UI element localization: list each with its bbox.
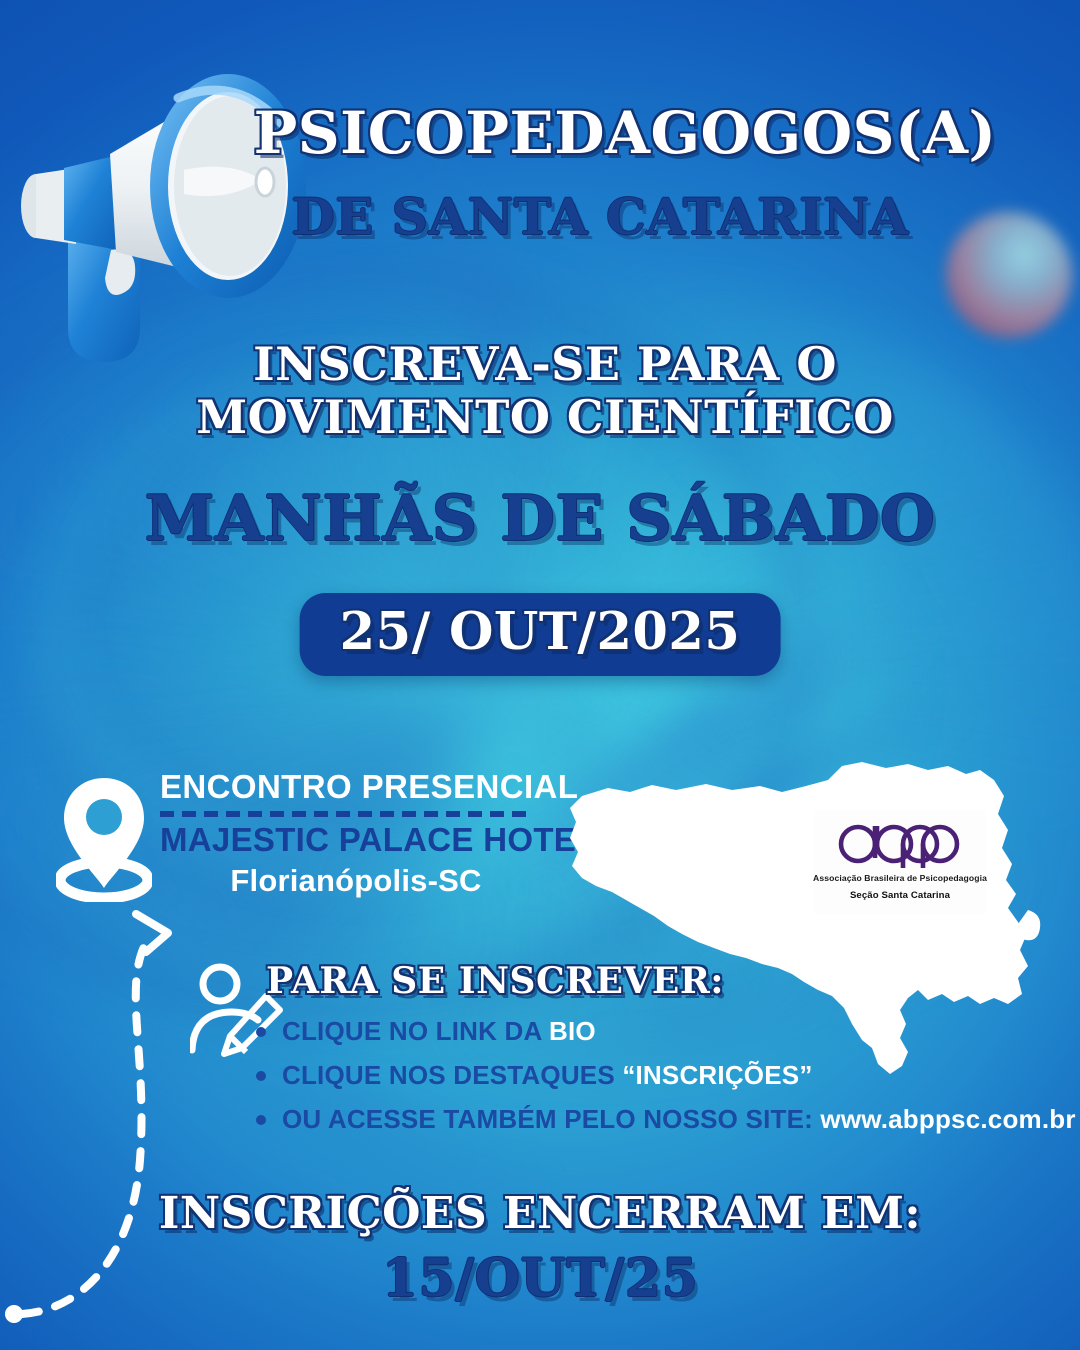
subheading-line1: INSCREVA-SE PARA O <box>10 338 1080 391</box>
instruction-text: CLIQUE NO LINK DA <box>282 1016 549 1046</box>
location-type: ENCONTRO PRESENCIAL <box>160 768 580 806</box>
abpp-logo-icon <box>834 812 966 872</box>
instruction-highlight: “INSCRIÇÕES” <box>622 1060 812 1090</box>
subheading: INSCREVA-SE PARA O MOVIMENTO CIENTÍFICO <box>0 338 1080 445</box>
abpp-logo-card: Associação Brasileira de Psicopedagogia … <box>814 810 986 914</box>
abpp-logo-name: Associação Brasileira de Psicopedagogia <box>813 873 987 883</box>
page-title-line1: PSICOPEDAGOGOS(A) <box>0 104 1080 162</box>
location-divider <box>160 811 530 817</box>
event-title: MANHÃS DE SÁBADO <box>0 487 1080 550</box>
instruction-text: CLIQUE NOS DESTAQUES <box>282 1060 622 1090</box>
page-title-line2: DE SANTA CATARINA <box>0 192 1080 242</box>
list-item: CLIQUE NO LINK DA BIO <box>250 1018 1010 1044</box>
deadline-date: 15/OUT/25 <box>0 1253 1080 1305</box>
website-link[interactable]: www.abppsc.com.br <box>820 1104 1075 1134</box>
event-poster: PSICOPEDAGOGOS(A) DE SANTA CATARINA INSC… <box>0 0 1080 1350</box>
instruction-highlight: BIO <box>549 1016 596 1046</box>
abpp-logo-section: Seção Santa Catarina <box>850 890 950 901</box>
list-item: OU ACESSE TAMBÉM PELO NOSSO SITE: www.ab… <box>250 1106 1010 1132</box>
signup-instructions-list: CLIQUE NO LINK DA BIO CLIQUE NOS DESTAQU… <box>250 1018 1010 1150</box>
signup-title: PARA SE INSCREVER: <box>266 963 724 999</box>
instruction-text: OU ACESSE TAMBÉM PELO NOSSO SITE: <box>282 1104 820 1134</box>
date-badge: 25/ OUT/2025 <box>300 593 781 676</box>
subheading-line2: MOVIMENTO CIENTÍFICO <box>10 391 1080 444</box>
date-badge-text: 25/ OUT/2025 <box>340 607 741 658</box>
deadline-label: INSCRIÇÕES ENCERRAM EM: <box>0 1192 1080 1236</box>
list-item: CLIQUE NOS DESTAQUES “INSCRIÇÕES” <box>250 1062 1010 1088</box>
